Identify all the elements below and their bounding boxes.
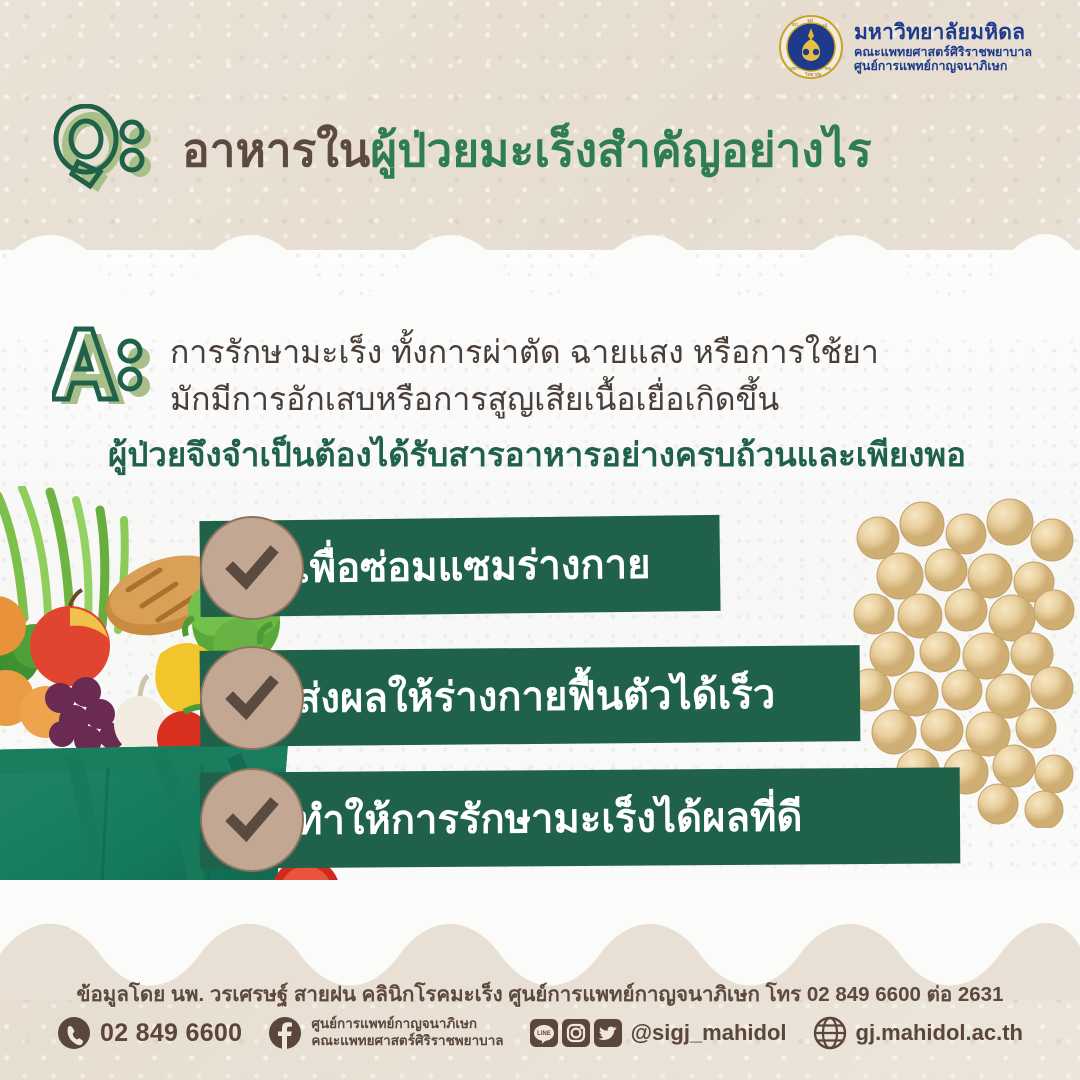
twitter-icon [594, 1019, 622, 1047]
mahidol-seal-icon: อภจุฬณ์ มหาวิทยาลัยดล [778, 14, 844, 80]
answer-text-block: การรักษามะเร็ง ทั้งการผ่าตัด ฉายแสง หรือ… [170, 325, 966, 481]
university-text-block: มหาวิทยาลัยมหิดล คณะแพทยศาสตร์ศิริราชพยา… [854, 21, 1032, 73]
answer-emphasis: ผู้ป่วยจึงจำเป็นต้องได้รับสารอาหารอย่างค… [108, 428, 966, 481]
credit-line: ข้อมูลโดย นพ. วรเศรษฐ์ สายฝน คลินิกโรคมะ… [0, 978, 1080, 1011]
svg-text:จุฬ: จุฬ [807, 17, 814, 24]
svg-text:มหา: มหา [790, 66, 799, 71]
question-headline: อาหารในผู้ป่วยมะเร็งสำคัญอย่างไร [182, 114, 872, 187]
svg-text:ดล: ดล [825, 66, 831, 71]
answer-line-2: มักมีการอักเสบหรือการสูญเสียเนื้อเยื่อเก… [170, 376, 966, 423]
faculty-name: คณะแพทยศาสตร์ศิริราชพยาบาล [854, 45, 1032, 59]
wave-divider-top [0, 215, 1080, 335]
facebook-line-2: คณะแพทยศาสตร์ศิริราชพยาบาล [311, 1033, 503, 1050]
university-name: มหาวิทยาลัยมหิดล [854, 21, 1032, 45]
university-logo-block: อภจุฬณ์ มหาวิทยาลัยดล มหาวิทยาลัยมหิดล ค… [778, 14, 1032, 80]
social-handle: @sigj_mahidol [631, 1020, 787, 1046]
benefit-item-1: เพื่อซ่อมแซมร่างกาย [200, 518, 720, 614]
question-row: อาหารในผู้ป่วยมะเร็งสำคัญอย่างไร [52, 104, 872, 196]
globe-icon [813, 1016, 847, 1050]
benefits-list: เพื่อซ่อมแซมร่างกาย ส่งผลให้ร่างกายฟื้นต… [200, 518, 1080, 898]
facebook-icon [268, 1016, 302, 1050]
facebook-line-1: ศูนย์การแพทย์กาญจนาภิเษก [311, 1016, 503, 1033]
social-icon-set: LINE [530, 1019, 622, 1047]
facebook-group[interactable]: ศูนย์การแพทย์กาญจนาภิเษก คณะแพทยศาสตร์ศิ… [268, 1016, 503, 1050]
answer-line-1: การรักษามะเร็ง ทั้งการผ่าตัด ฉายแสง หรือ… [170, 329, 966, 376]
svg-text:วิทยาลัย: วิทยาลัย [805, 71, 822, 77]
question-text-plain: อาหารใน [182, 124, 370, 176]
benefit-item-3: ทำให้การรักษามะเร็งได้ผลที่ดี [200, 770, 960, 866]
svg-text:LINE: LINE [537, 1031, 551, 1037]
phone-group[interactable]: 02 849 6600 [57, 1016, 242, 1050]
benefit-item-2: ส่งผลให้ร่างกายฟื้นตัวได้เร็ว [200, 648, 860, 744]
check-icon [200, 516, 304, 620]
infographic-canvas: อภจุฬณ์ มหาวิทยาลัยดล มหาวิทยาลัยมหิดล ค… [0, 0, 1080, 1080]
website-url: gj.mahidol.ac.th [856, 1020, 1023, 1046]
line-icon: LINE [530, 1019, 558, 1047]
facebook-text-block: ศูนย์การแพทย์กาญจนาภิเษก คณะแพทยศาสตร์ศิ… [311, 1016, 503, 1050]
phone-number: 02 849 6600 [100, 1019, 242, 1048]
phone-icon [57, 1016, 91, 1050]
svg-text:อภ: อภ [792, 22, 798, 27]
social-group[interactable]: LINE @sigj_mahidol [530, 1019, 787, 1047]
question-marker-q-icon [52, 104, 160, 196]
instagram-icon [562, 1019, 590, 1047]
benefit-bar-3: ทำให้การรักษามะเร็งได้ผลที่ดี [200, 767, 961, 868]
check-icon [200, 768, 304, 872]
contact-bar: 02 849 6600 ศูนย์การแพทย์กาญจนาภิเษก คณะ… [0, 1016, 1080, 1050]
check-icon [200, 646, 304, 750]
center-name: ศูนย์การแพทย์กาญจนาภิเษก [854, 59, 1032, 73]
svg-text:ณ์: ณ์ [823, 22, 828, 28]
question-text-highlight: ผู้ป่วยมะเร็งสำคัญอย่างไร [370, 124, 871, 176]
answer-row: การรักษามะเร็ง ทั้งการผ่าตัด ฉายแสง หรือ… [52, 325, 966, 481]
answer-marker-a-icon [52, 325, 152, 417]
website-group[interactable]: gj.mahidol.ac.th [813, 1016, 1023, 1050]
